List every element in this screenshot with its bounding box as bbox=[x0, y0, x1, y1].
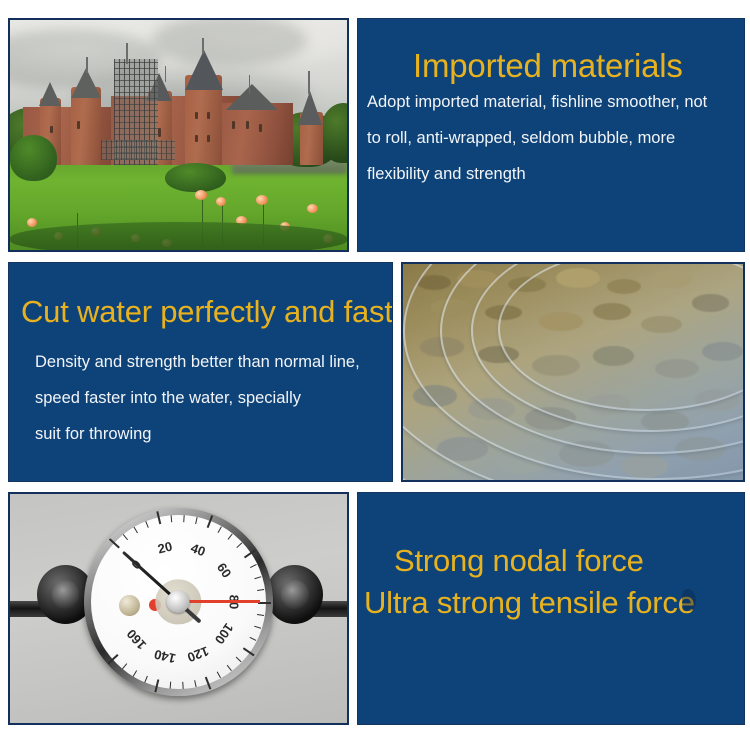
tower-roof bbox=[39, 82, 61, 106]
major-tick bbox=[108, 654, 119, 664]
flower-bed bbox=[10, 222, 347, 250]
minor-tick bbox=[228, 533, 233, 539]
window bbox=[195, 135, 198, 142]
dial-numeral: 20 bbox=[157, 538, 175, 556]
tension-gauge-photo: 020406080100120140160 bbox=[8, 492, 349, 725]
panel-3-heading-line-1: Strong nodal force bbox=[394, 543, 644, 579]
spire bbox=[86, 57, 88, 73]
rose-flower bbox=[27, 218, 37, 227]
major-tick bbox=[243, 647, 255, 656]
hall-roof bbox=[226, 84, 278, 110]
window bbox=[77, 121, 80, 129]
major-tick bbox=[244, 549, 256, 558]
major-tick bbox=[109, 538, 120, 548]
panel-cut-water: Cut water perfectly and faster Density a… bbox=[8, 262, 393, 482]
minor-tick bbox=[145, 675, 149, 682]
minor-tick bbox=[250, 564, 257, 568]
flagpole bbox=[165, 66, 166, 82]
panel-3-heading-line-2: Ultra strong tensile force bbox=[364, 585, 695, 621]
minor-tick bbox=[171, 515, 173, 522]
minor-tick bbox=[146, 521, 150, 528]
minor-tick bbox=[133, 670, 137, 677]
panel-strong-nodal-force: Strong nodal force Ultra strong tensile … bbox=[357, 492, 745, 725]
minor-tick bbox=[237, 542, 243, 548]
dial-face: 020406080100120140160 bbox=[91, 515, 266, 689]
tower bbox=[71, 87, 101, 165]
minor-tick bbox=[255, 576, 262, 579]
dial-numeral: 120 bbox=[186, 643, 212, 665]
red-pointer-needle bbox=[178, 600, 260, 603]
castle-photo bbox=[8, 18, 349, 252]
window bbox=[207, 135, 210, 142]
dial-numeral: 160 bbox=[124, 626, 150, 652]
minor-tick bbox=[218, 526, 222, 533]
needle-hub bbox=[167, 590, 190, 613]
dial-numeral: 100 bbox=[212, 620, 237, 646]
minor-tick bbox=[170, 681, 172, 688]
minor-tick bbox=[257, 614, 264, 616]
minor-tick bbox=[123, 534, 128, 540]
panel-1-body-line-1: Adopt imported material, fishline smooth… bbox=[367, 93, 707, 112]
major-tick bbox=[207, 515, 214, 528]
scaffolding bbox=[101, 140, 175, 161]
minor-tick bbox=[195, 680, 197, 687]
water-pebbles-photo bbox=[401, 262, 745, 482]
keep-roof bbox=[185, 50, 223, 90]
panel-1-body-line-2: to roll, anti-wrapped, seldom bubble, mo… bbox=[367, 129, 675, 148]
window bbox=[50, 126, 53, 133]
minor-tick bbox=[227, 664, 232, 670]
spire bbox=[202, 38, 204, 54]
castle-wing-right bbox=[219, 103, 293, 165]
rose-flower bbox=[307, 204, 318, 213]
product-feature-collage: Imported materials Adopt imported materi… bbox=[0, 0, 750, 750]
minor-tick bbox=[183, 681, 184, 688]
panel-imported-materials: Imported materials Adopt imported materi… bbox=[357, 18, 745, 252]
major-tick bbox=[157, 511, 162, 524]
window bbox=[158, 128, 161, 137]
flagpole bbox=[249, 75, 250, 93]
minor-tick bbox=[258, 589, 265, 591]
dial-numeral: 40 bbox=[189, 540, 208, 559]
minor-tick bbox=[196, 517, 198, 524]
gauge-dial: 020406080100120140160 bbox=[84, 508, 273, 696]
spire bbox=[308, 71, 310, 94]
panel-2-body-line-3: suit for throwing bbox=[35, 425, 151, 444]
rose-flower bbox=[256, 195, 268, 205]
window bbox=[246, 121, 249, 129]
zero-adjust-screw bbox=[119, 595, 140, 616]
panel-2-body-line-1: Density and strength better than normal … bbox=[35, 353, 360, 372]
panel-2-body-line-2: speed faster into the water, specially bbox=[35, 389, 301, 408]
chapel-roof bbox=[298, 91, 322, 125]
window bbox=[207, 112, 210, 119]
minor-tick bbox=[250, 637, 257, 641]
dial-numeral: 60 bbox=[214, 560, 235, 580]
window bbox=[232, 121, 235, 129]
window bbox=[195, 112, 198, 119]
panel-1-body-line-3: flexibility and strength bbox=[367, 165, 526, 184]
major-tick bbox=[155, 679, 160, 692]
minor-tick bbox=[255, 625, 262, 628]
panel-1-heading: Imported materials bbox=[413, 47, 683, 85]
panel-2-heading: Cut water perfectly and faster bbox=[21, 294, 393, 330]
dial-numeral: 140 bbox=[153, 646, 178, 666]
minor-tick bbox=[123, 663, 128, 669]
minor-tick bbox=[217, 671, 221, 678]
major-tick bbox=[205, 676, 212, 689]
rose-flower bbox=[216, 197, 226, 206]
minor-tick bbox=[184, 515, 185, 522]
spire bbox=[126, 43, 128, 64]
topiary-bush bbox=[165, 163, 226, 193]
minor-tick bbox=[134, 526, 138, 533]
minor-tick bbox=[236, 656, 242, 662]
water-surface-sheen bbox=[403, 264, 743, 480]
hedge bbox=[10, 135, 57, 181]
window bbox=[259, 124, 262, 132]
